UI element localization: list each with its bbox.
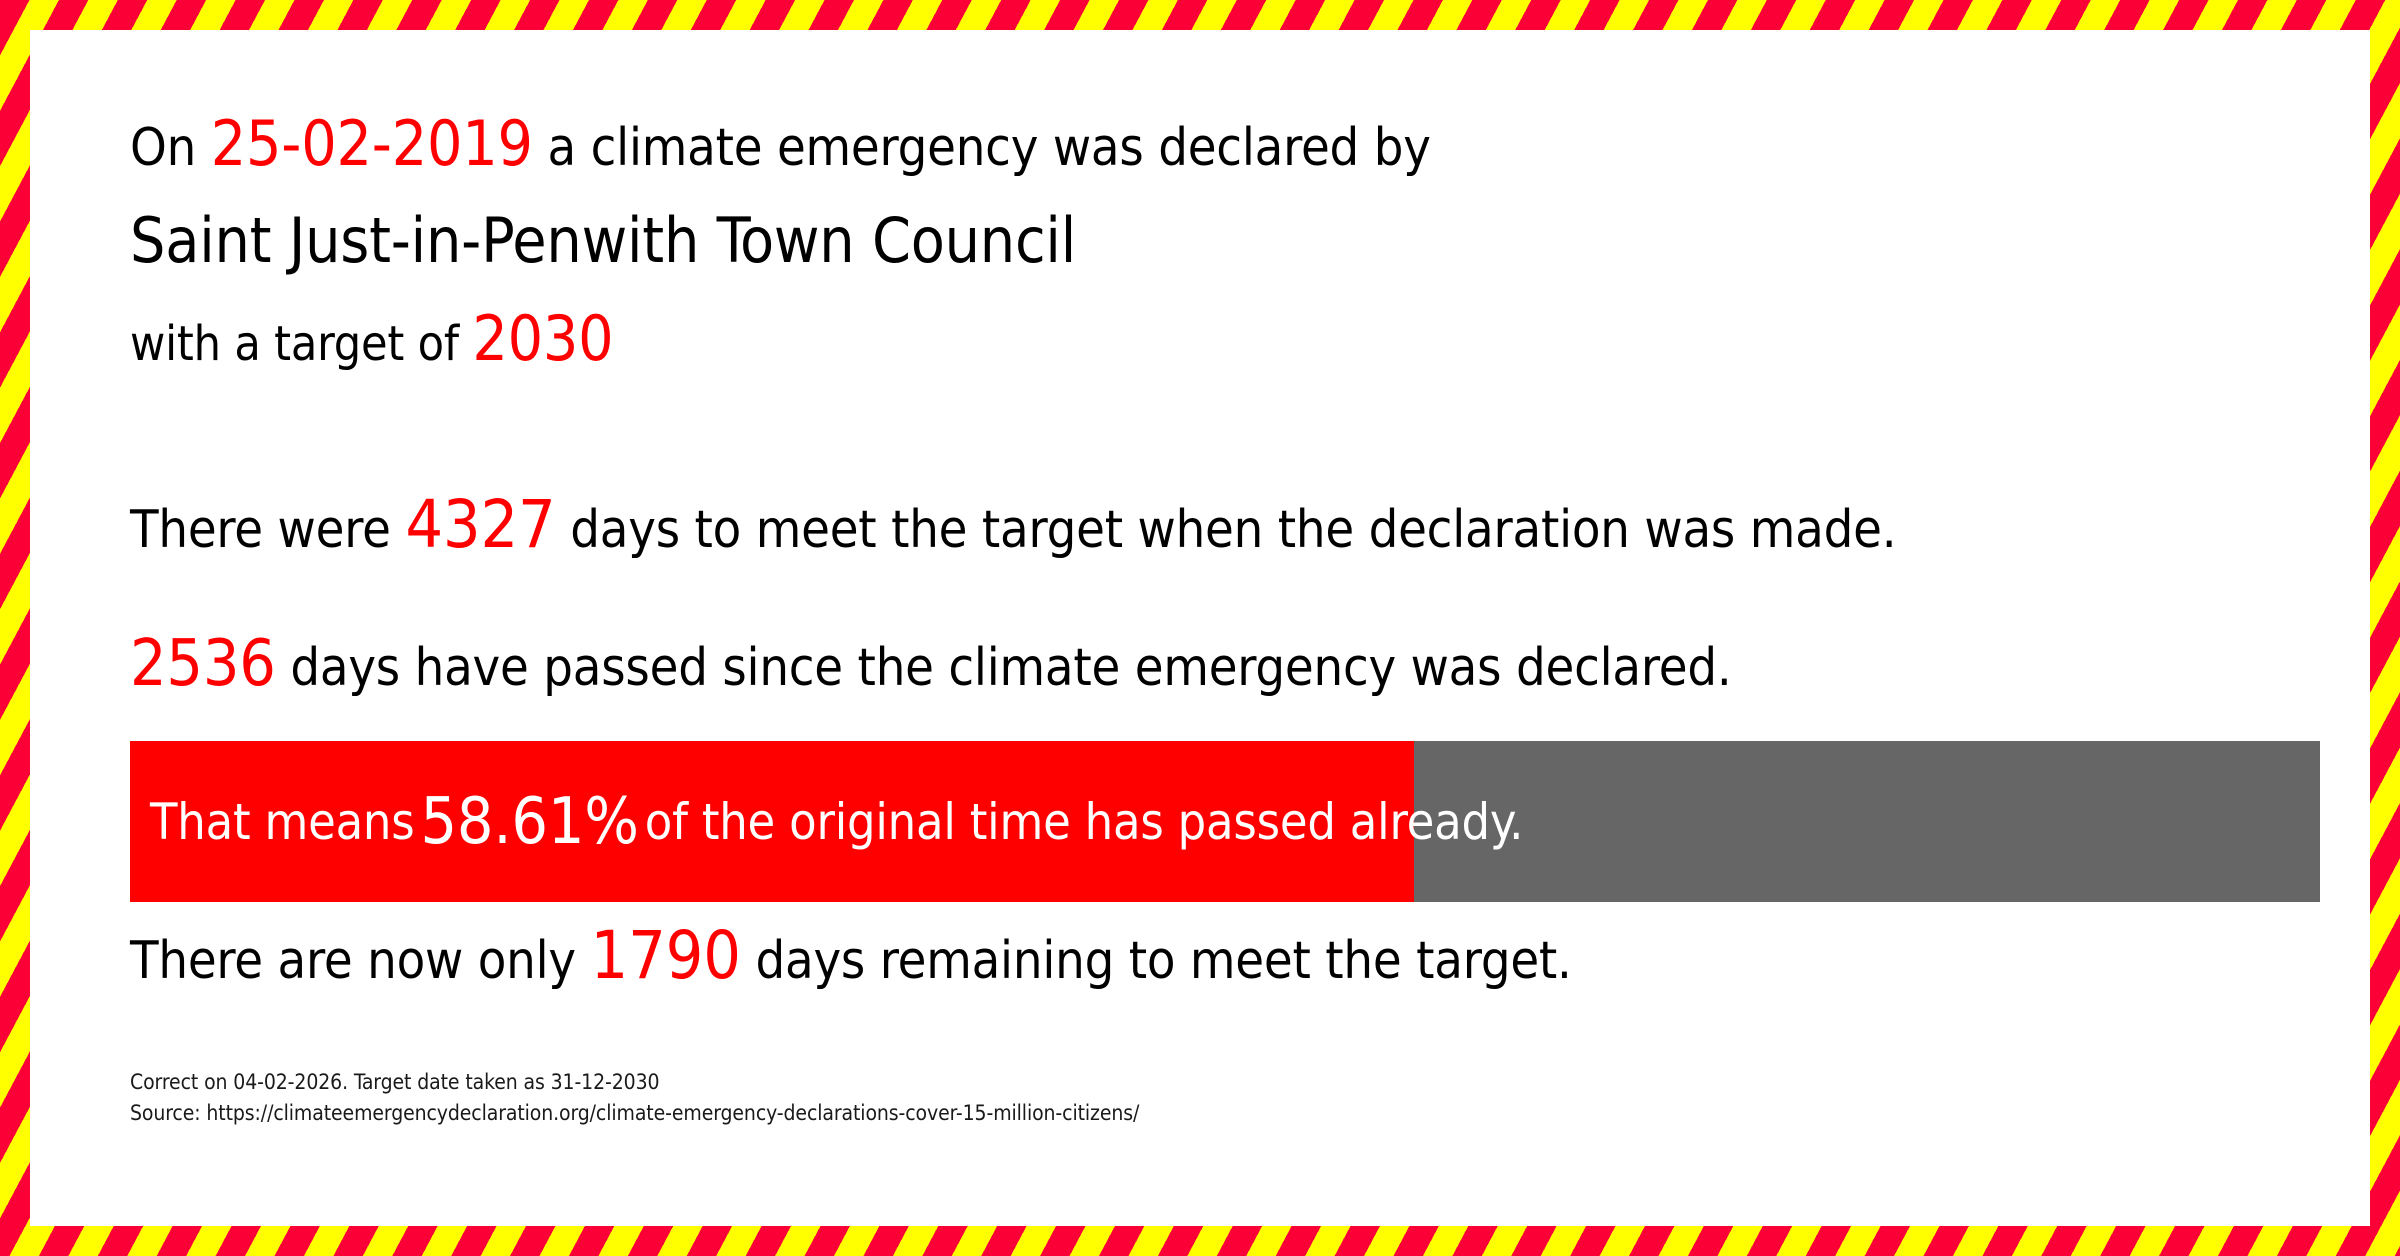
climate-emergency-poster: On 25-02-2019 a climate emergency was de… xyxy=(0,0,2400,1256)
elapsed-days-value: 2536 xyxy=(130,627,276,701)
remaining-days-line: There are now only 1790 days remaining t… xyxy=(130,923,1572,989)
declaration-suffix: a climate emergency was declared by xyxy=(548,118,1431,178)
content-card: On 25-02-2019 a climate emergency was de… xyxy=(30,30,2370,1226)
declaration-prefix: On xyxy=(130,118,196,178)
elapsed-days-line: 2536 days have passed since the climate … xyxy=(130,632,1731,696)
progress-bar-label: That means 58.61% of the original time h… xyxy=(150,741,1523,902)
elapsed-time-progress-bar: That means 58.61% of the original time h… xyxy=(130,741,2320,902)
target-year-line: with a target of 2030 xyxy=(130,308,613,370)
target-year: 2030 xyxy=(472,302,613,375)
declaration-date: 25-02-2019 xyxy=(211,107,533,180)
footer-correct-on: Correct on 04-02-2026. Target date taken… xyxy=(130,1067,1139,1097)
footer-source: Source: https://climateemergencydeclarat… xyxy=(130,1098,1139,1128)
original-days-value: 4327 xyxy=(405,486,555,563)
original-days-line: There were 4327 days to meet the target … xyxy=(130,492,1896,558)
target-prefix: with a target of xyxy=(130,316,459,372)
original-days-prefix: There were xyxy=(130,500,391,560)
remaining-days-prefix: There are now only xyxy=(130,931,576,991)
remaining-days-value: 1790 xyxy=(591,917,741,994)
progress-label-suffix: of the original time has passed already. xyxy=(645,793,1523,851)
declaration-date-line: On 25-02-2019 a climate emergency was de… xyxy=(130,113,1431,175)
original-days-suffix: days to meet the target when the declara… xyxy=(570,500,1896,560)
footer-notes: Correct on 04-02-2026. Target date taken… xyxy=(130,1067,1139,1128)
progress-label-prefix: That means xyxy=(150,793,414,851)
elapsed-days-suffix: days have passed since the climate emerg… xyxy=(290,638,1731,698)
content-card-inner: On 25-02-2019 a climate emergency was de… xyxy=(102,30,2298,1226)
progress-percent-value: 58.61% xyxy=(414,785,644,859)
remaining-days-suffix: days remaining to meet the target. xyxy=(755,931,1571,991)
declaring-authority: Saint Just-in-Penwith Town Council xyxy=(130,210,1076,272)
